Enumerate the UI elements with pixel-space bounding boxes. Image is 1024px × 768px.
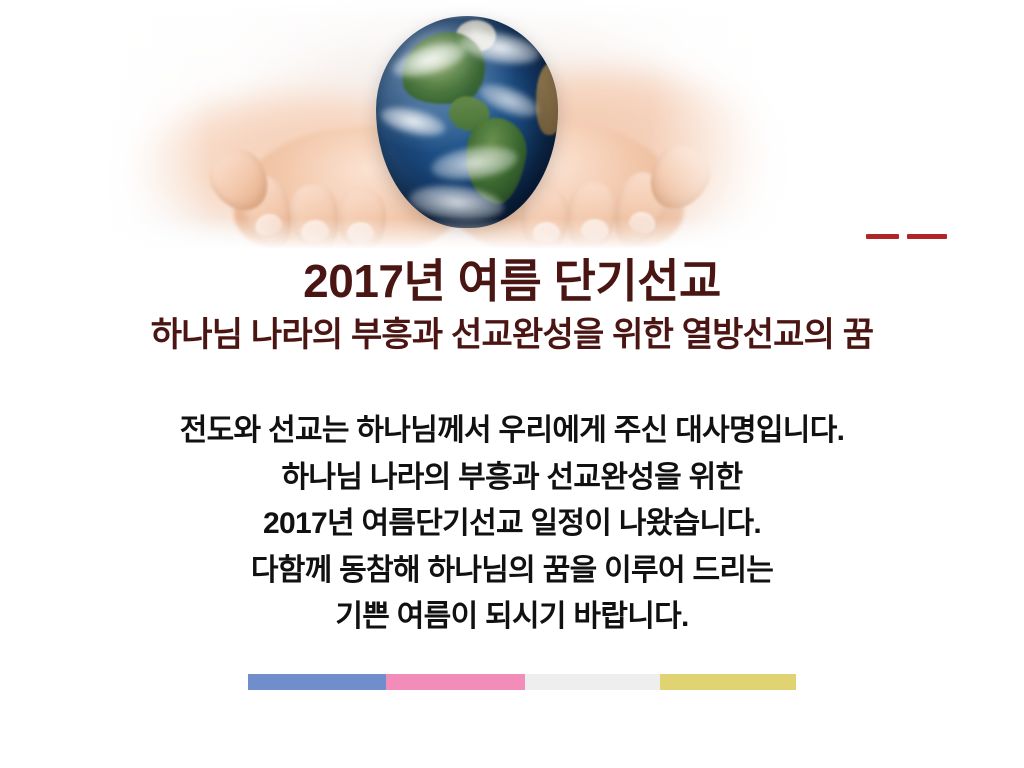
hands-holding-globe-photo: [95, 0, 807, 248]
color-bar-segment-gray: [525, 674, 660, 690]
left-nail-3: [347, 222, 374, 242]
earth-globe: [376, 16, 558, 228]
red-dash-accent: [866, 234, 947, 239]
poster-canvas: 2017년 여름 단기선교 하나님 나라의 부흥과 선교완성을 위한 열방선교의…: [0, 0, 1024, 768]
color-bar-segment-pink: [386, 674, 525, 690]
globe-sphere: [376, 16, 558, 228]
body-line-4: 다함께 동참해 하나님의 꿈을 이루어 드리는: [0, 548, 1024, 595]
cloud-band-3: [378, 102, 448, 143]
color-bar-segment-blue: [248, 674, 386, 690]
color-bar-segment-yellow: [660, 674, 796, 690]
red-dash-1-icon: [866, 234, 899, 239]
body-text-block: 전도와 선교는 하나님께서 우리에게 주신 대사명입니다. 하나님 나라의 부흥…: [0, 408, 1024, 641]
title-block: 2017년 여름 단기선교 하나님 나라의 부흥과 선교완성을 위한 열방선교의…: [0, 255, 1024, 357]
body-line-1: 전도와 선교는 하나님께서 우리에게 주신 대사명입니다.: [0, 408, 1024, 455]
body-line-3: 2017년 여름단기선교 일정이 나왔습니다.: [0, 501, 1024, 548]
page-title: 2017년 여름 단기선교: [0, 255, 1024, 308]
africa-edge-landmass: [536, 63, 558, 135]
red-dash-2-icon: [907, 234, 947, 239]
page-subtitle: 하나님 나라의 부흥과 선교완성을 위한 열방선교의 꿈: [0, 314, 1024, 357]
body-line-5: 기쁜 여름이 되시기 바랍니다.: [0, 594, 1024, 641]
bottom-color-bar: [248, 674, 796, 690]
body-line-2: 하나님 나라의 부흥과 선교완성을 위한: [0, 455, 1024, 502]
